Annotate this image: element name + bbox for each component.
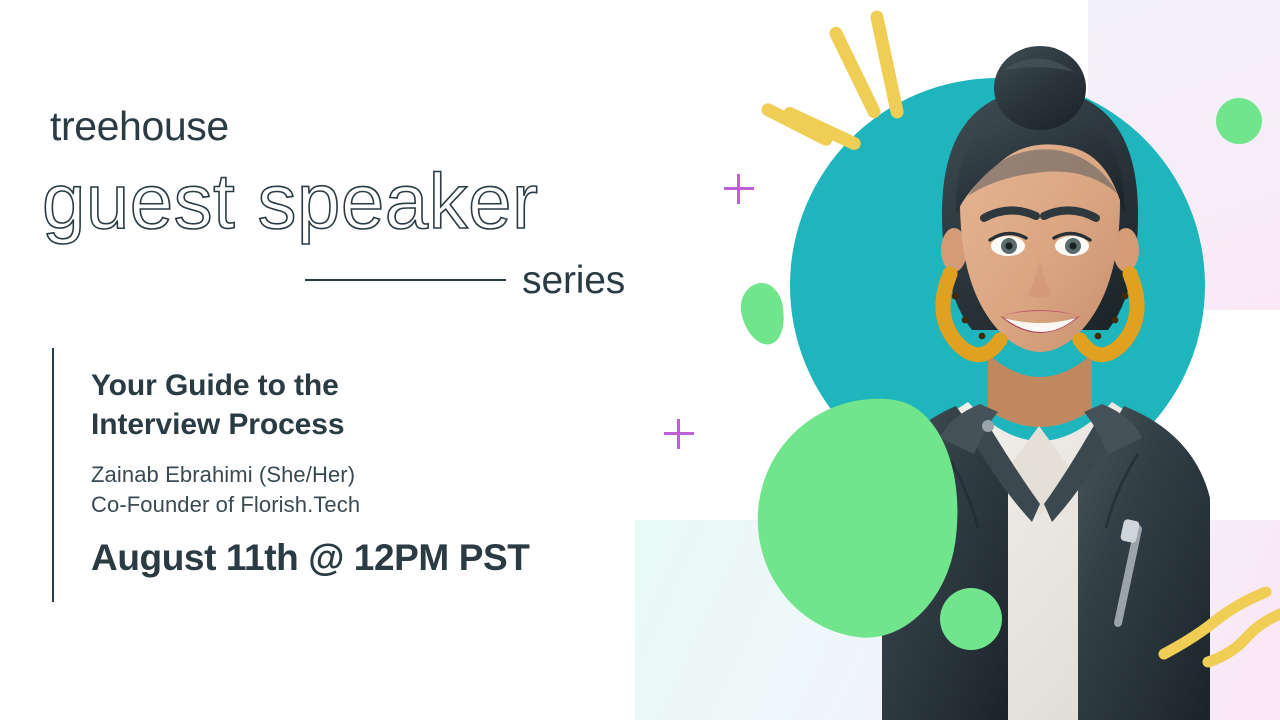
speaker-name: Zainab Ebrahimi (She/Her) [91, 460, 631, 490]
talk-title: Your Guide to the Interview Process [91, 366, 631, 444]
speaker-role: Co-Founder of Florish.Tech [91, 490, 631, 520]
yellow-squiggle-lines [1150, 570, 1280, 690]
headline-outline-text: guest speaker [42, 162, 538, 240]
green-circle-dot [940, 588, 1002, 650]
series-divider-rule [305, 279, 506, 281]
left-vertical-rule [52, 348, 54, 602]
talk-title-line-1: Your Guide to the [91, 366, 631, 405]
brand-wordmark: treehouse [50, 106, 229, 147]
promo-slide: treehouse guest speaker series Your Guid… [0, 0, 1280, 720]
talk-title-line-2: Interview Process [91, 405, 631, 444]
event-datetime: August 11th @ 12PM PST [91, 539, 631, 576]
event-info-block: Your Guide to the Interview Process Zain… [91, 366, 631, 576]
series-label: series [522, 261, 625, 300]
green-organic-blob [736, 279, 790, 348]
magenta-plus-icon [724, 174, 754, 204]
magenta-plus-icon [664, 419, 694, 449]
series-row: series [305, 258, 625, 302]
